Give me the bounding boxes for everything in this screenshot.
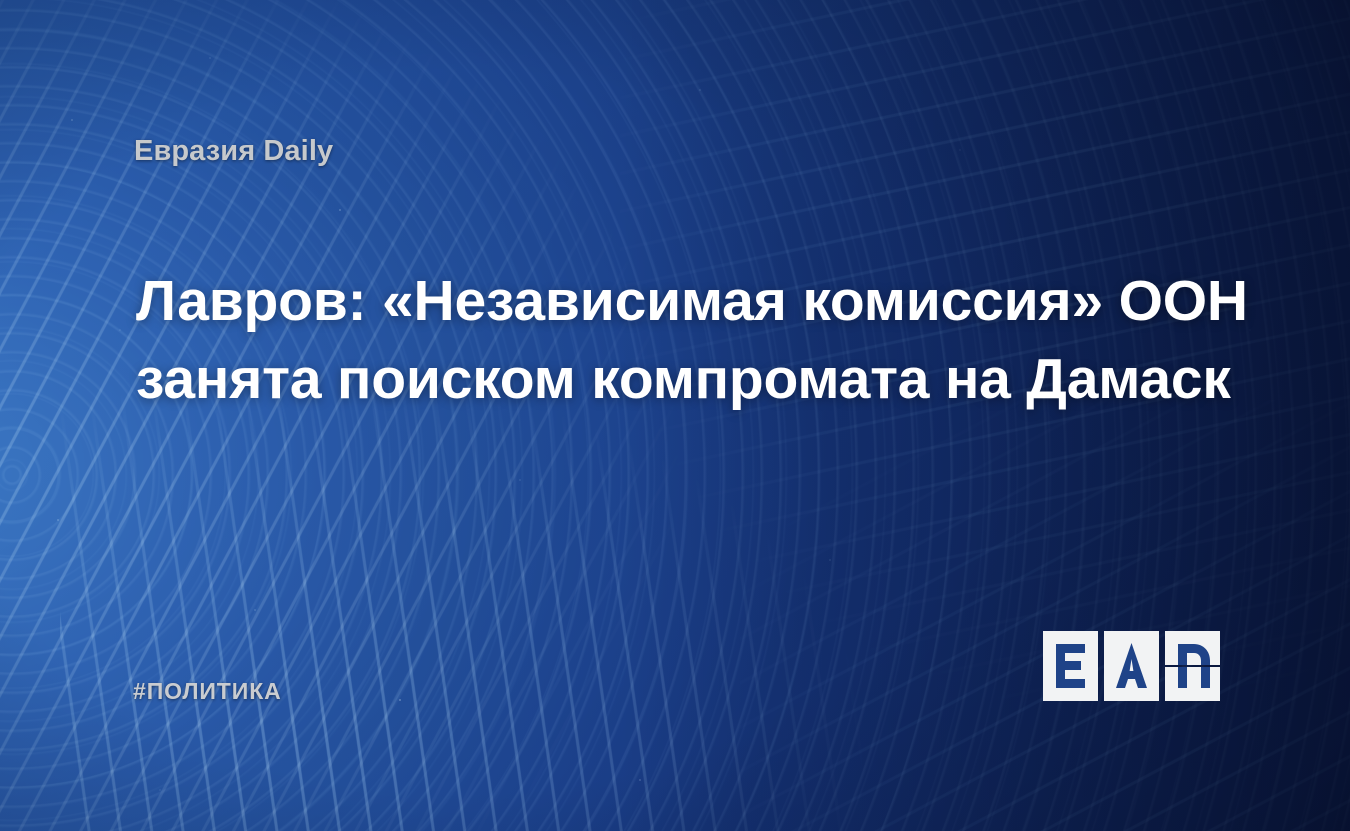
letter-d-lower-icon (1165, 667, 1220, 701)
headline-line-1: Лавров: «Независимая комиссия» ООН (136, 262, 1226, 340)
card-content: Евразия Daily Лавров: «Независимая комис… (0, 0, 1350, 831)
page-title: Лавров: «Независимая комиссия» ООН занят… (136, 262, 1226, 418)
news-card: Евразия Daily Лавров: «Независимая комис… (0, 0, 1350, 831)
brand-wordmark: Евразия Daily (134, 135, 333, 168)
ead-logo-tile-a (1104, 631, 1159, 701)
letter-d-upper-icon (1165, 631, 1220, 665)
ead-logo-tile-d-top (1165, 631, 1220, 665)
ead-logo-column-a (1104, 631, 1159, 701)
ead-logo-column-e (1043, 631, 1098, 701)
letter-e-icon (1043, 631, 1098, 701)
ead-logo (1043, 631, 1221, 701)
letter-a-icon (1104, 631, 1159, 701)
ead-logo-tile-e (1043, 631, 1098, 701)
category-hashtag: #ПОЛИТИКА (133, 678, 282, 705)
ead-logo-column-d (1165, 631, 1220, 701)
headline-line-2: занята поиском компромата на Дамаск (136, 340, 1226, 418)
ead-logo-tile-d-bottom (1165, 667, 1220, 701)
